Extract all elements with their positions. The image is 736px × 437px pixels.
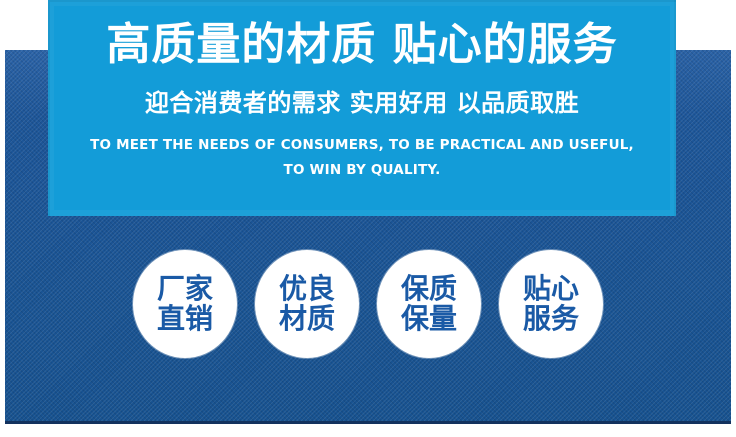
feature-circle-line-2: 材质 (279, 304, 335, 334)
feature-circle-line-2: 保量 (401, 304, 457, 334)
feature-circle: 优良 材质 (255, 250, 359, 358)
headline-title: 高质量的材质 贴心的服务 (48, 22, 676, 68)
feature-circle-line-1: 贴心 (523, 274, 579, 304)
feature-circle: 贴心 服务 (499, 250, 603, 358)
feature-circle-list: 厂家 直销 优良 材质 保质 保量 贴心 服务 (0, 248, 736, 360)
feature-circle: 厂家 直销 (133, 250, 237, 358)
feature-circle-line-2: 服务 (523, 304, 579, 334)
subtitle-english: TO MEET THE NEEDS OF CONSUMERS, TO BE PR… (48, 133, 676, 183)
feature-circle-line-1: 优良 (279, 274, 335, 304)
feature-circle-line-1: 保质 (401, 274, 457, 304)
feature-circle-line-2: 直销 (157, 304, 213, 334)
subtitle-english-line-2: TO WIN BY QUALITY. (48, 158, 676, 183)
feature-circle-line-1: 厂家 (157, 274, 213, 304)
feature-circle: 保质 保量 (377, 250, 481, 358)
promo-banner: 高质量的材质 贴心的服务 迎合消费者的需求 实用好用 以品质取胜 TO MEET… (0, 0, 736, 437)
headline-panel: 高质量的材质 贴心的服务 迎合消费者的需求 实用好用 以品质取胜 TO MEET… (48, 0, 676, 216)
subtitle-english-line-1: TO MEET THE NEEDS OF CONSUMERS, TO BE PR… (48, 133, 676, 158)
background-bottom-border (5, 421, 731, 424)
subtitle-chinese: 迎合消费者的需求 实用好用 以品质取胜 (48, 90, 676, 116)
